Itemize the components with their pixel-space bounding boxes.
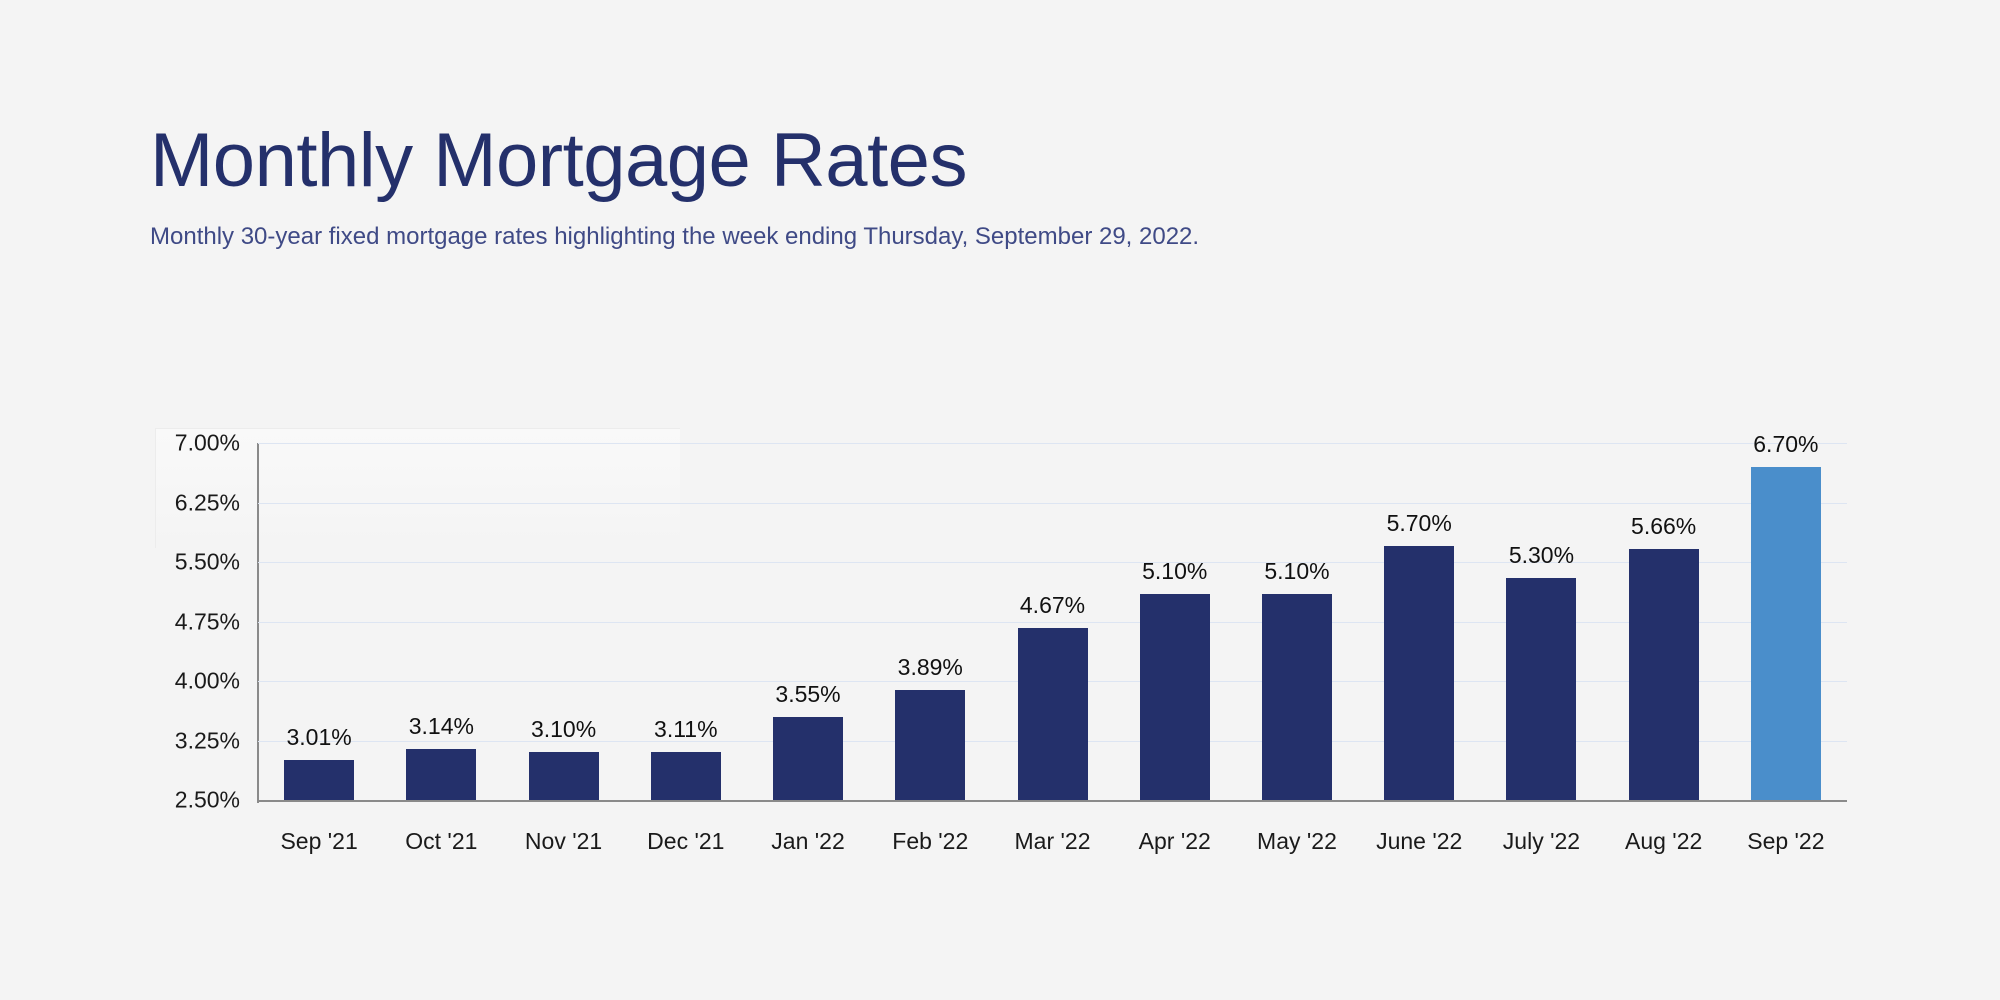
bar-value-label: 4.67% <box>1020 592 1085 619</box>
x-axis-tick-label: Oct '21 <box>405 828 477 855</box>
x-axis-tick-label: Apr '22 <box>1139 828 1211 855</box>
gridline <box>258 503 1847 504</box>
x-axis-tick-label: Sep '22 <box>1747 828 1824 855</box>
bar-value-label: 3.55% <box>775 681 840 708</box>
bar-value-label: 3.89% <box>898 654 963 681</box>
bar[interactable] <box>651 752 721 800</box>
bar-value-label: 3.01% <box>287 724 352 751</box>
x-axis-tick-label: Dec '21 <box>647 828 724 855</box>
bar-value-label: 5.70% <box>1387 510 1452 537</box>
y-axis-tick-label: 2.50% <box>120 787 240 814</box>
chart-plot-area: 7.00%6.25%5.50%4.75%4.00%3.25%2.50% Sep … <box>0 0 2000 1000</box>
gridline <box>258 562 1847 563</box>
bar[interactable] <box>1506 578 1576 800</box>
y-axis-tick-label: 4.75% <box>120 608 240 635</box>
x-axis-line <box>258 800 1847 802</box>
bar[interactable] <box>529 752 599 800</box>
chart-page: Monthly Mortgage Rates Monthly 30-year f… <box>0 0 2000 1000</box>
bar[interactable] <box>1262 594 1332 800</box>
bar[interactable] <box>895 690 965 800</box>
y-axis-tick-labels: 7.00%6.25%5.50%4.75%4.00%3.25%2.50% <box>110 0 240 1000</box>
bar-value-label: 3.10% <box>531 716 596 743</box>
bar[interactable] <box>773 717 843 800</box>
x-axis-tick-label: July '22 <box>1503 828 1580 855</box>
bar-value-label: 3.11% <box>654 716 718 743</box>
bar-value-label: 5.30% <box>1509 542 1574 569</box>
y-axis-tick-label: 7.00% <box>120 430 240 457</box>
bar[interactable] <box>1751 467 1821 800</box>
x-axis-tick-label: Nov '21 <box>525 828 602 855</box>
bar-value-label: 3.14% <box>409 713 474 740</box>
bar-value-label: 5.10% <box>1142 558 1207 585</box>
gridline <box>258 622 1847 623</box>
x-axis-tick-label: Feb '22 <box>892 828 968 855</box>
x-axis-tick-label: June '22 <box>1376 828 1462 855</box>
bar[interactable] <box>1629 549 1699 800</box>
x-axis-tick-label: Mar '22 <box>1015 828 1091 855</box>
bar[interactable] <box>406 749 476 800</box>
x-axis-tick-label: Sep '21 <box>280 828 357 855</box>
bar-value-label: 6.70% <box>1753 431 1818 458</box>
y-axis-tick-label: 6.25% <box>120 489 240 516</box>
bar[interactable] <box>1018 628 1088 800</box>
y-axis-tick-label: 4.00% <box>120 668 240 695</box>
bar[interactable] <box>1384 546 1454 800</box>
plot-canvas <box>258 443 1847 800</box>
bar[interactable] <box>284 760 354 800</box>
y-axis-tick-label: 3.25% <box>120 727 240 754</box>
y-axis-tick-label: 5.50% <box>120 549 240 576</box>
bar-value-label: 5.66% <box>1631 513 1696 540</box>
x-axis-tick-label: Jan '22 <box>771 828 844 855</box>
x-axis-tick-label: May '22 <box>1257 828 1337 855</box>
bar[interactable] <box>1140 594 1210 800</box>
x-axis-tick-label: Aug '22 <box>1625 828 1702 855</box>
gridline <box>258 443 1847 444</box>
bar-value-label: 5.10% <box>1264 558 1329 585</box>
